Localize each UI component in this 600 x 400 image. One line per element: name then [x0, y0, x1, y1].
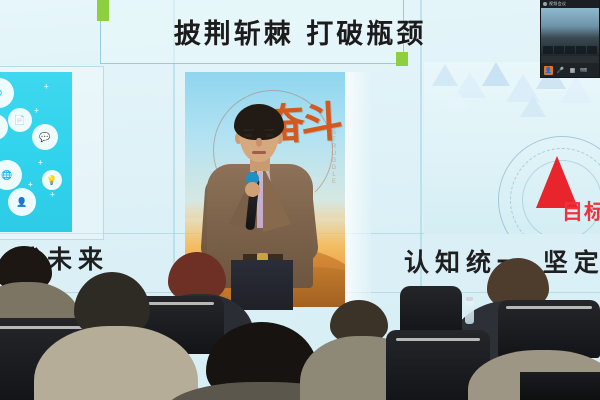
sparkle-mark: + — [34, 106, 39, 115]
gear-icon: ⚙ — [0, 78, 14, 108]
person-idea-icon: 👤 — [8, 188, 36, 216]
gallery-view-icon[interactable]: ▦ — [568, 66, 577, 75]
video-feed-seat — [543, 46, 553, 54]
chair-highlight — [396, 338, 480, 341]
speaker-hair — [234, 104, 284, 140]
banner-corner-accent — [396, 52, 408, 66]
speaker-hand — [245, 182, 260, 197]
sparkle-mark: + — [38, 158, 43, 167]
globe-icon: 🌐 — [0, 160, 22, 190]
toolbar-view-label: 视图 — [580, 68, 587, 73]
poster-right-red-text: 目标 — [562, 196, 600, 226]
banner-headline: 披荆斩棘 打破瓶颈 — [0, 12, 600, 51]
speaker-eyebrow — [243, 129, 254, 131]
video-feed-seat — [565, 46, 575, 54]
video-conference-titlebar: 视频会议 — [541, 0, 599, 8]
video-feed-seat — [576, 46, 586, 54]
speaker-trousers — [231, 260, 293, 310]
poster-right: 目标 — [424, 62, 600, 234]
rocket-icon: ✈ — [0, 114, 8, 140]
participants-icon[interactable]: 👤 — [544, 66, 553, 75]
conference-photo: ⚙ 📄 💬 ✈ 🌐 👤 💡 + + + + + 奋斗 STRUGGLE — [0, 0, 600, 400]
speaker-eyebrow — [264, 129, 275, 131]
speaker-eye — [244, 134, 252, 137]
sparkle-mark: + — [28, 180, 33, 189]
poster-left: ⚙ 📄 💬 ✈ 🌐 👤 💡 + + + + + — [0, 72, 72, 232]
speaker-mouth — [252, 151, 266, 154]
chat-bubble-icon: 💬 — [32, 124, 58, 150]
speaker-eye — [266, 134, 274, 137]
lightbulb-icon: 💡 — [42, 170, 62, 190]
document-icon: 📄 — [8, 108, 32, 132]
video-conference-title: 视频会议 — [549, 1, 566, 7]
audience-chair — [400, 286, 462, 336]
microphone-icon[interactable]: 🎤 — [556, 66, 565, 75]
video-feed-seat — [554, 46, 564, 54]
chair-highlight — [506, 306, 592, 309]
paper-triangle-icon — [560, 76, 592, 103]
poster-vertical-subtitle: STRUGGLE — [325, 130, 337, 186]
poster-center-edge — [345, 72, 371, 307]
video-conference-toolbar[interactable]: 👤 🎤 ▦ 视图 — [541, 63, 599, 77]
window-dot-icon — [543, 2, 547, 6]
paper-triangle-icon — [444, 88, 468, 108]
sparkle-mark: + — [50, 190, 55, 199]
audience-table — [520, 372, 600, 400]
sparkle-mark: + — [44, 82, 49, 91]
water-bottle — [465, 300, 474, 324]
water-bottle-cap — [466, 297, 473, 301]
video-feed-seat — [587, 46, 597, 54]
speaker-nose — [256, 138, 262, 147]
video-conference-screen[interactable]: 视频会议 👤 🎤 ▦ 视图 — [540, 0, 600, 78]
video-conference-feed — [541, 8, 599, 56]
video-feed-seats — [543, 40, 597, 54]
paper-triangle-icon — [520, 96, 546, 117]
